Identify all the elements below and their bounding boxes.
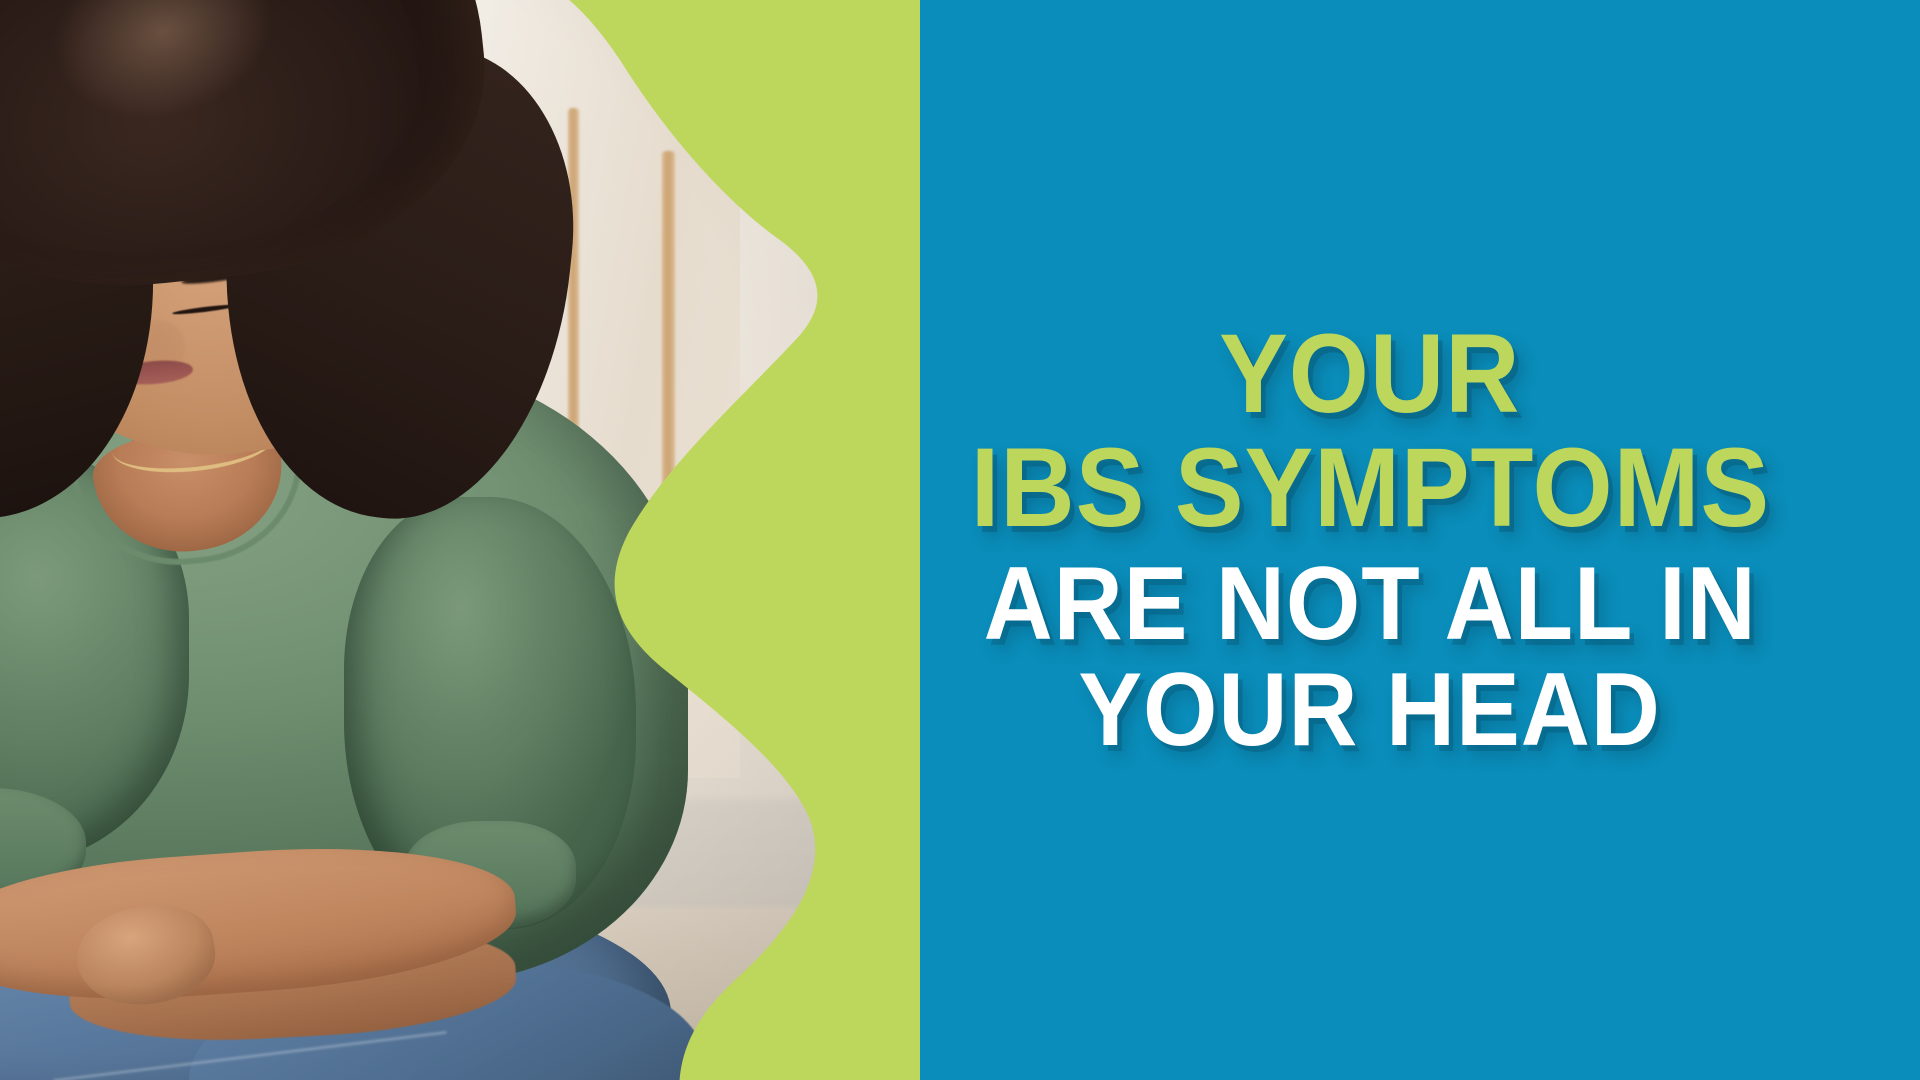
headline-block: YOUR IBS SYMPTOMS ARE NOT ALL IN YOUR HE… (860, 0, 1920, 1080)
headline-line-1: YOUR (1219, 318, 1520, 430)
headline-line-3: ARE NOT ALL IN (983, 552, 1756, 656)
headline-line-2: IBS SYMPTOMS (970, 432, 1769, 544)
headline-line-4: YOUR HEAD (1079, 658, 1661, 762)
woman-figure (0, 0, 860, 1080)
ibs-awareness-banner: YOUR IBS SYMPTOMS ARE NOT ALL IN YOUR HE… (0, 0, 1920, 1080)
hero-photo (0, 0, 860, 1080)
photo-stage (0, 0, 860, 1080)
